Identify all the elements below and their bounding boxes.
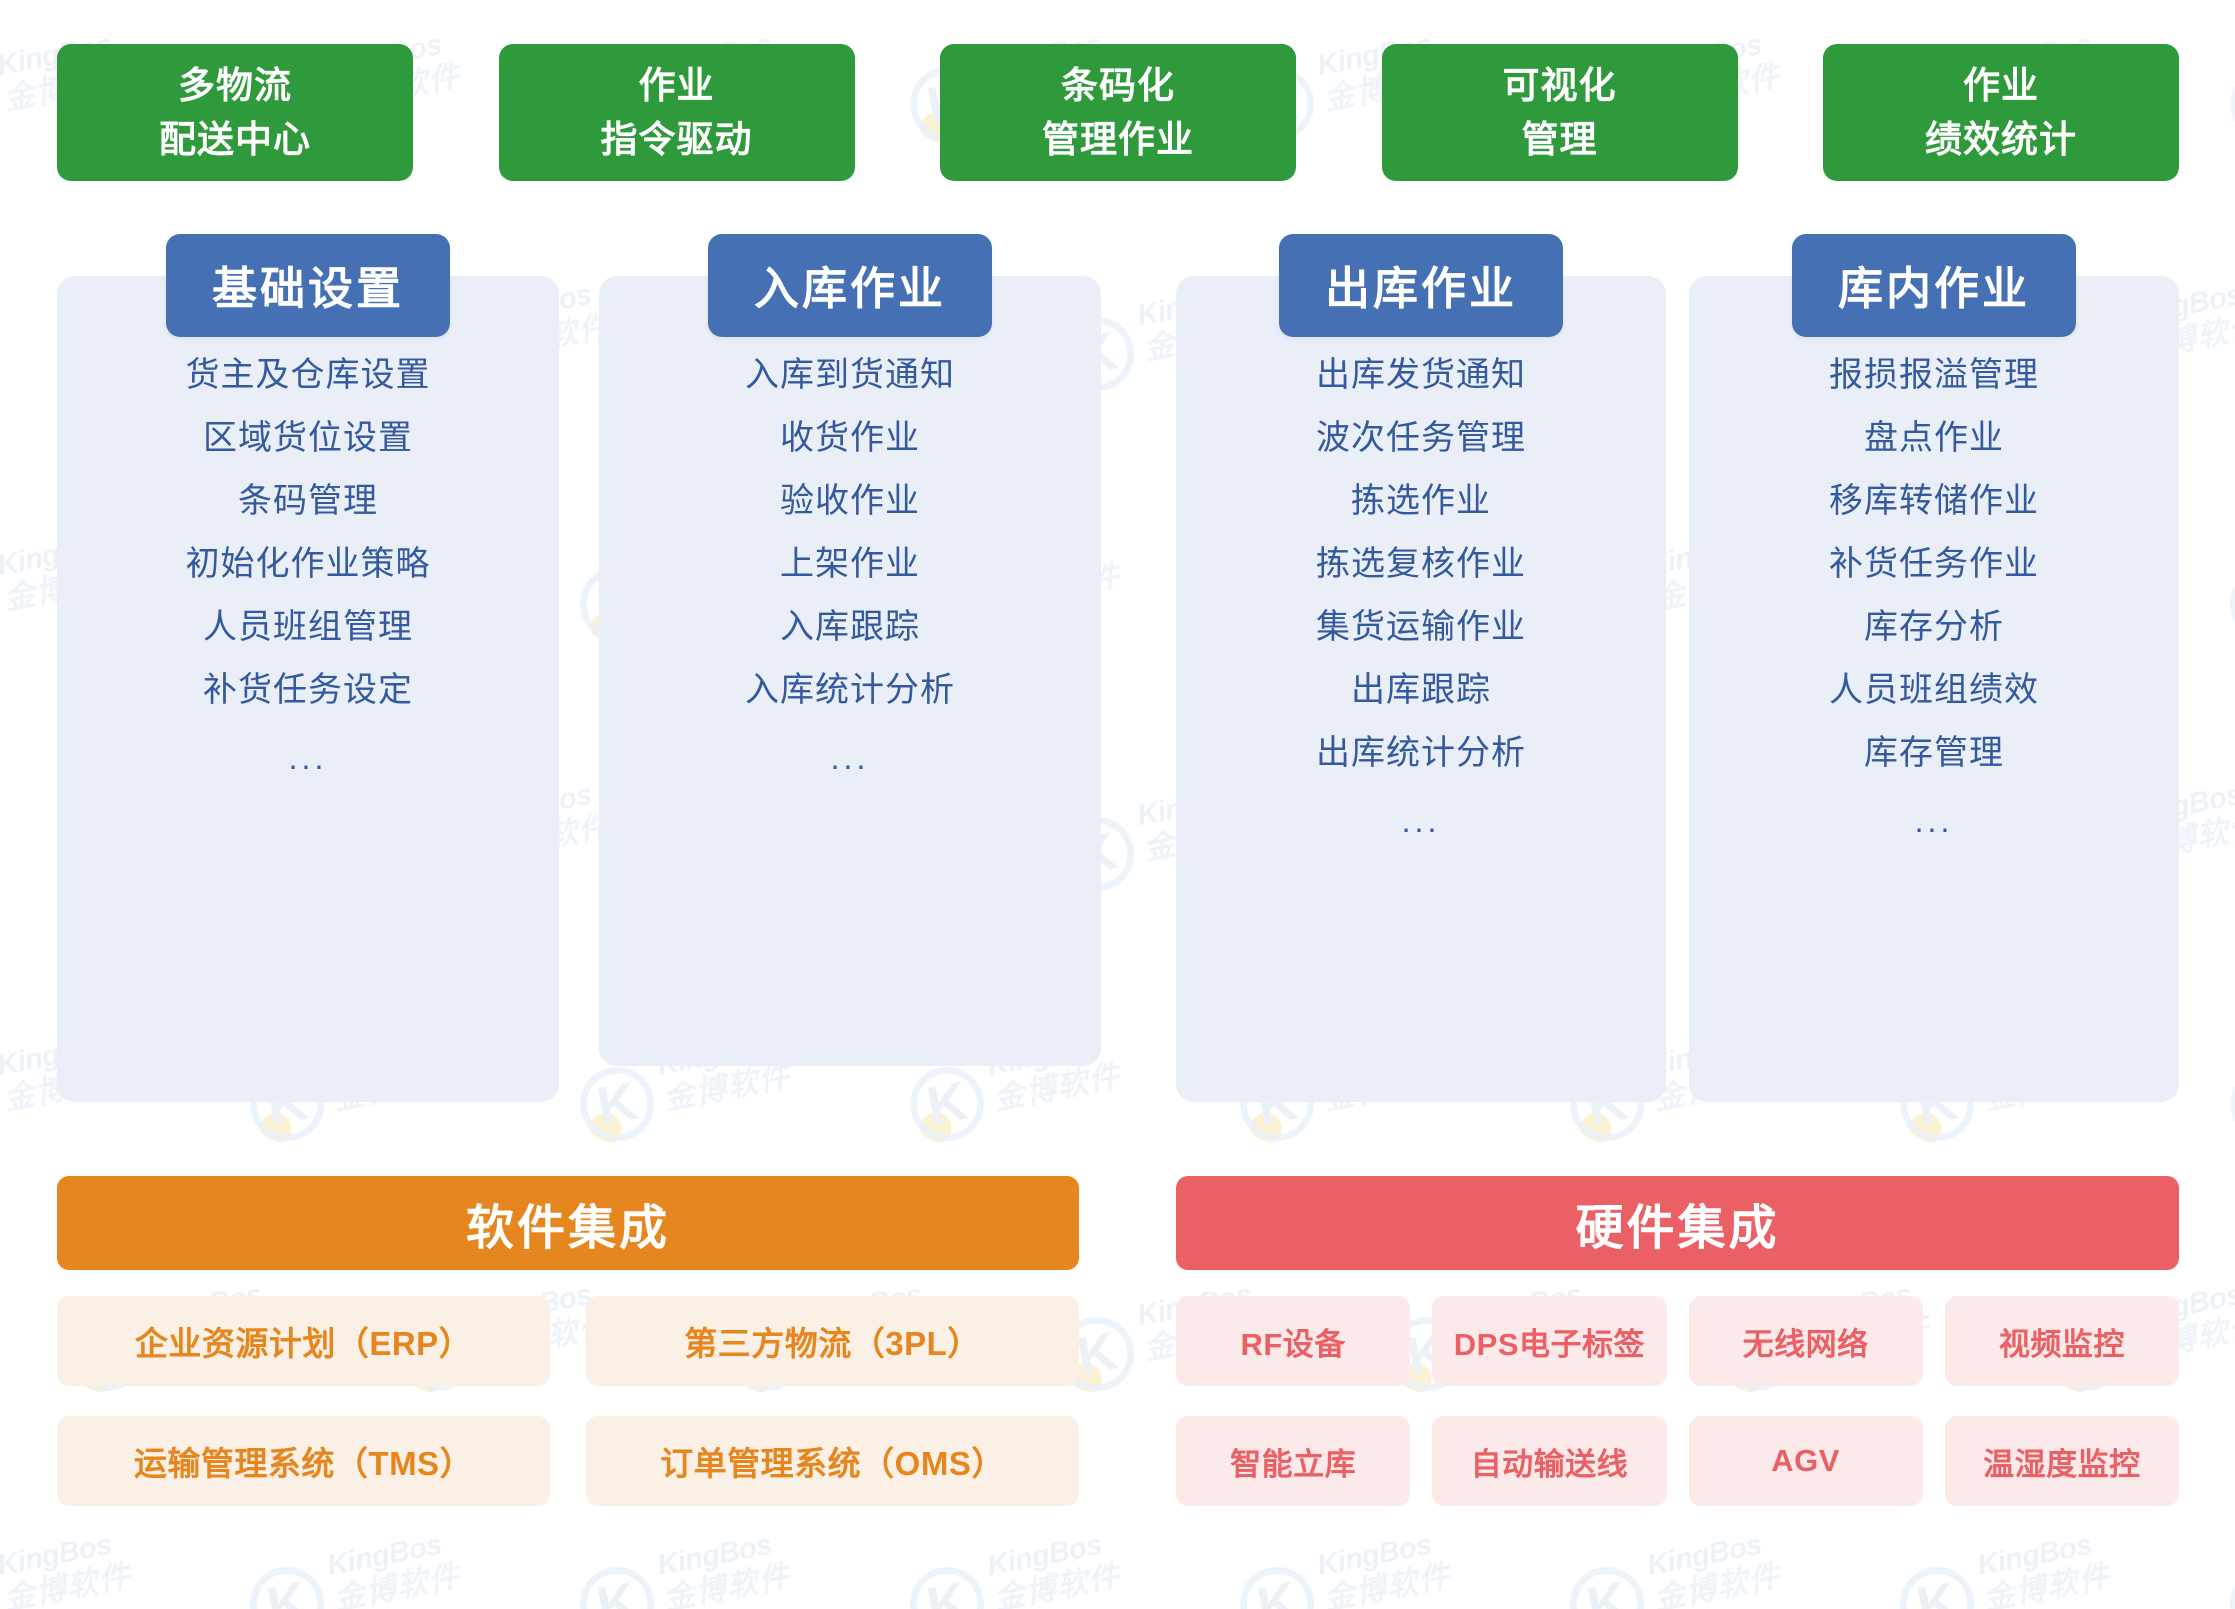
module-item[interactable]: 补货任务设定 bbox=[203, 659, 413, 722]
module-title[interactable]: 入库作业 bbox=[708, 234, 992, 337]
top-feature-line1: 作业 bbox=[1963, 59, 2039, 113]
module-item-more[interactable]: ... bbox=[289, 722, 328, 789]
module-item[interactable]: 出库跟踪 bbox=[1351, 659, 1491, 722]
top-feature-line1: 作业 bbox=[639, 59, 715, 113]
module-group-left: 基础设置 货主及仓库设置区域货位设置条码管理初始化作业策略人员班组管理补货任务设… bbox=[57, 276, 1131, 1102]
module-item[interactable]: 收货作业 bbox=[780, 407, 920, 470]
module-item[interactable]: 货主及仓库设置 bbox=[186, 344, 431, 407]
module-item[interactable]: 入库跟踪 bbox=[780, 596, 920, 659]
module-item[interactable]: 报损报溢管理 bbox=[1829, 344, 2039, 407]
top-feature-row: 多物流 配送中心 作业 指令驱动 条码化 管理作业 可视化 管理 作业 绩效统计 bbox=[57, 44, 2179, 181]
module-item-list: 货主及仓库设置区域货位设置条码管理初始化作业策略人员班组管理补货任务设定... bbox=[57, 344, 559, 789]
integration-chip[interactable]: 订单管理系统（OMS） bbox=[586, 1416, 1079, 1506]
top-feature-line1: 可视化 bbox=[1503, 59, 1617, 113]
hardware-integration-chip-grid: RF设备DPS电子标签无线网络视频监控智能立库自动输送线AGV温湿度监控 bbox=[1176, 1296, 2179, 1506]
module-item[interactable]: 波次任务管理 bbox=[1316, 407, 1526, 470]
module-panel-outbound: 出库作业 出库发货通知波次任务管理拣选作业拣选复核作业集货运输作业出库跟踪出库统… bbox=[1176, 276, 1666, 1102]
integration-chip[interactable]: 温湿度监控 bbox=[1945, 1416, 2179, 1506]
hardware-integration-section: 硬件集成 RF设备DPS电子标签无线网络视频监控智能立库自动输送线AGV温湿度监… bbox=[1176, 1176, 2179, 1506]
top-feature-card[interactable]: 多物流 配送中心 bbox=[57, 44, 413, 181]
top-feature-line2: 管理 bbox=[1522, 113, 1598, 167]
top-feature-card[interactable]: 作业 绩效统计 bbox=[1823, 44, 2179, 181]
module-item-more[interactable]: ... bbox=[831, 722, 870, 789]
module-item[interactable]: 条码管理 bbox=[238, 470, 378, 533]
module-item[interactable]: 入库统计分析 bbox=[745, 659, 955, 722]
integration-chip[interactable]: DPS电子标签 bbox=[1432, 1296, 1666, 1386]
top-feature-card[interactable]: 条码化 管理作业 bbox=[940, 44, 1296, 181]
module-item[interactable]: 验收作业 bbox=[780, 470, 920, 533]
software-integration-section: 软件集成 企业资源计划（ERP）第三方物流（3PL）运输管理系统（TMS）订单管… bbox=[57, 1176, 1079, 1506]
integration-chip[interactable]: 自动输送线 bbox=[1432, 1416, 1666, 1506]
integration-chip[interactable]: AGV bbox=[1689, 1416, 1923, 1506]
integration-chip[interactable]: 运输管理系统（TMS） bbox=[57, 1416, 550, 1506]
module-item[interactable]: 补货任务作业 bbox=[1829, 533, 2039, 596]
module-item[interactable]: 区域货位设置 bbox=[203, 407, 413, 470]
hardware-integration-title: 硬件集成 bbox=[1176, 1176, 2179, 1270]
module-item[interactable]: 人员班组管理 bbox=[203, 596, 413, 659]
module-item-more[interactable]: ... bbox=[1915, 785, 1954, 852]
module-item[interactable]: 拣选作业 bbox=[1351, 470, 1491, 533]
top-feature-card[interactable]: 作业 指令驱动 bbox=[499, 44, 855, 181]
top-feature-line2: 绩效统计 bbox=[1925, 113, 2077, 167]
module-item[interactable]: 拣选复核作业 bbox=[1316, 533, 1526, 596]
software-integration-chip-grid: 企业资源计划（ERP）第三方物流（3PL）运输管理系统（TMS）订单管理系统（O… bbox=[57, 1296, 1079, 1506]
top-feature-line1: 多物流 bbox=[178, 59, 292, 113]
top-feature-card[interactable]: 可视化 管理 bbox=[1382, 44, 1738, 181]
module-title[interactable]: 库内作业 bbox=[1792, 234, 2076, 337]
module-title[interactable]: 基础设置 bbox=[166, 234, 450, 337]
top-feature-line1: 条码化 bbox=[1061, 59, 1175, 113]
module-item[interactable]: 上架作业 bbox=[780, 533, 920, 596]
content-layer: 多物流 配送中心 作业 指令驱动 条码化 管理作业 可视化 管理 作业 绩效统计 bbox=[0, 0, 2235, 1609]
module-item[interactable]: 移库转储作业 bbox=[1829, 470, 2039, 533]
integration-chip[interactable]: 无线网络 bbox=[1689, 1296, 1923, 1386]
module-panel-inbound: 入库作业 入库到货通知收货作业验收作业上架作业入库跟踪入库统计分析... bbox=[599, 276, 1101, 1066]
software-integration-title: 软件集成 bbox=[57, 1176, 1079, 1270]
module-item-list: 出库发货通知波次任务管理拣选作业拣选复核作业集货运输作业出库跟踪出库统计分析..… bbox=[1176, 344, 1666, 852]
module-item-more[interactable]: ... bbox=[1402, 785, 1441, 852]
module-panel-in-warehouse: 库内作业 报损报溢管理盘点作业移库转储作业补货任务作业库存分析人员班组绩效库存管… bbox=[1689, 276, 2179, 1102]
module-item[interactable]: 盘点作业 bbox=[1864, 407, 2004, 470]
module-item[interactable]: 库存管理 bbox=[1864, 722, 2004, 785]
module-item[interactable]: 人员班组绩效 bbox=[1829, 659, 2039, 722]
integration-chip[interactable]: 视频监控 bbox=[1945, 1296, 2179, 1386]
top-feature-line2: 配送中心 bbox=[159, 113, 311, 167]
module-group-right: 出库作业 出库发货通知波次任务管理拣选作业拣选复核作业集货运输作业出库跟踪出库统… bbox=[1176, 276, 2179, 1102]
module-item[interactable]: 集货运输作业 bbox=[1316, 596, 1526, 659]
module-item[interactable]: 出库统计分析 bbox=[1316, 722, 1526, 785]
top-feature-line2: 管理作业 bbox=[1042, 113, 1194, 167]
top-feature-line2: 指令驱动 bbox=[601, 113, 753, 167]
integration-chip[interactable]: 智能立库 bbox=[1176, 1416, 1410, 1506]
infographic-root: KingBos金博软件KingBos金博软件KingBos金博软件KingBos… bbox=[0, 0, 2235, 1609]
integration-chip[interactable]: RF设备 bbox=[1176, 1296, 1410, 1386]
module-item[interactable]: 库存分析 bbox=[1864, 596, 2004, 659]
module-item[interactable]: 入库到货通知 bbox=[745, 344, 955, 407]
module-panel-basic-settings: 基础设置 货主及仓库设置区域货位设置条码管理初始化作业策略人员班组管理补货任务设… bbox=[57, 276, 559, 1102]
module-item[interactable]: 初始化作业策略 bbox=[186, 533, 431, 596]
module-item-list: 入库到货通知收货作业验收作业上架作业入库跟踪入库统计分析... bbox=[599, 344, 1101, 789]
integration-chip[interactable]: 企业资源计划（ERP） bbox=[57, 1296, 550, 1386]
module-item-list: 报损报溢管理盘点作业移库转储作业补货任务作业库存分析人员班组绩效库存管理... bbox=[1689, 344, 2179, 852]
module-item[interactable]: 出库发货通知 bbox=[1316, 344, 1526, 407]
integration-chip[interactable]: 第三方物流（3PL） bbox=[586, 1296, 1079, 1386]
module-title[interactable]: 出库作业 bbox=[1279, 234, 1563, 337]
